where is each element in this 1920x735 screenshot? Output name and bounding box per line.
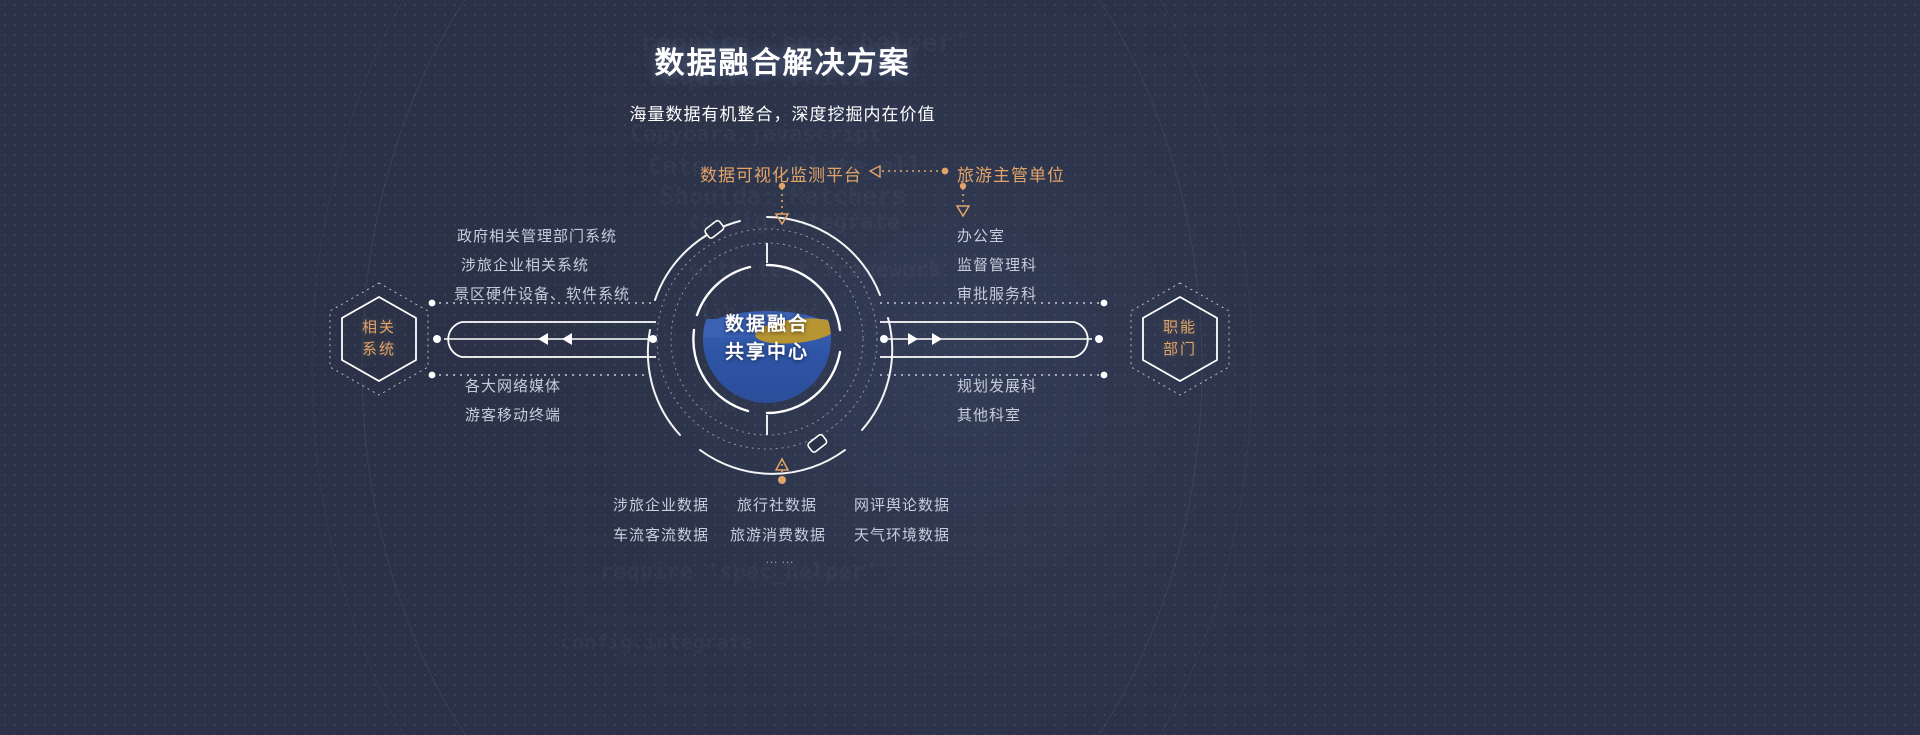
list-item-bottom-4: 车流客流数据 [613, 524, 709, 545]
list-item-bottom-3: 网评舆论数据 [854, 494, 950, 515]
list-item-right-upper-3: 审批服务科 [957, 283, 1037, 304]
center-label-line2: 共享中心 [725, 339, 809, 368]
hex-left-line2: 系统 [362, 339, 396, 361]
list-item-left-lower-1: 各大网络媒体 [465, 375, 561, 396]
bottom-connector [776, 459, 788, 484]
node-right-hexagon-label: 职能 部门 [1128, 281, 1232, 397]
hex-right-line2: 部门 [1163, 339, 1197, 361]
node-right-hexagon[interactable]: 职能 部门 [1128, 281, 1232, 397]
center-orb-label: 数据融合 共享中心 [703, 275, 831, 403]
top-right-connector [957, 188, 969, 216]
top-labels-link [870, 166, 948, 177]
node-left-hexagon[interactable]: 相关 系统 [327, 281, 431, 397]
list-item-left-upper-3: 景区硬件设备、软件系统 [454, 283, 630, 304]
list-item-left-lower-2: 游客移动终端 [465, 404, 561, 425]
list-item-left-upper-2: 涉旅企业相关系统 [461, 254, 589, 275]
list-item-bottom-2: 旅行社数据 [737, 494, 817, 515]
list-item-right-upper-1: 办公室 [957, 225, 1005, 246]
hex-right-line1: 职能 [1163, 317, 1197, 339]
list-item-right-lower-1: 规划发展科 [957, 375, 1037, 396]
list-item-bottom-5: 旅游消费数据 [730, 524, 826, 545]
label-tourism-authority[interactable]: 旅游主管单位 [957, 161, 1065, 186]
list-item-right-lower-2: 其他科室 [957, 404, 1021, 425]
list-item-left-upper-1: 政府相关管理部门系统 [457, 225, 617, 246]
bottom-ellipsis: …… [765, 551, 797, 566]
hex-left-line1: 相关 [362, 317, 396, 339]
diagram-stage: 相关 系统 职能 部门 数据融合 共享中心 数据可视化监测平台 旅游主管单位 政… [0, 0, 1565, 735]
list-item-bottom-1: 涉旅企业数据 [613, 494, 709, 515]
list-item-bottom-6: 天气环境数据 [854, 524, 950, 545]
list-item-right-upper-2: 监督管理科 [957, 254, 1037, 275]
node-left-hexagon-label: 相关 系统 [327, 281, 431, 397]
label-data-visualization-platform[interactable]: 数据可视化监测平台 [700, 161, 862, 186]
center-label-line1: 数据融合 [725, 311, 809, 340]
